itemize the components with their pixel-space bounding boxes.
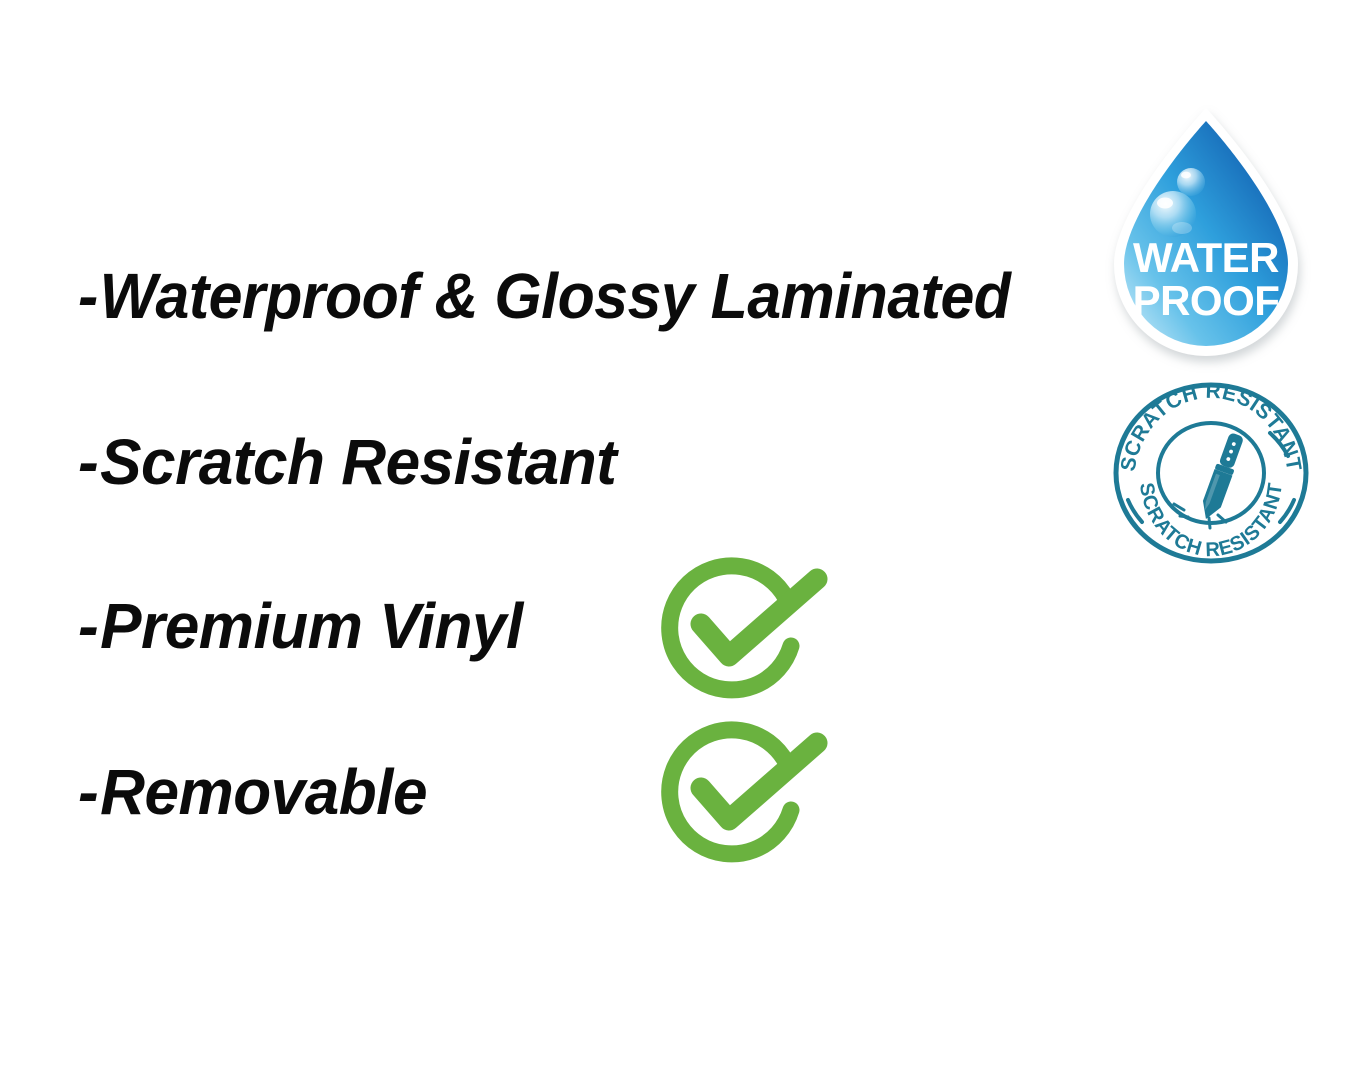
bullet-dash: - xyxy=(78,430,98,494)
waterproof-badge: WATER PROOF xyxy=(1098,104,1314,366)
feature-item-scratch-resistant: -Scratch Resistant xyxy=(78,430,616,494)
feature-label: Removable xyxy=(100,756,427,828)
feature-label: Premium Vinyl xyxy=(100,590,523,662)
bullet-dash: - xyxy=(78,760,98,824)
scratch-resistant-badge: SCRATCH RESISTANT SCRATCH RESISTANT xyxy=(1112,382,1310,564)
feature-label: Waterproof & Glossy Laminated xyxy=(100,260,1011,332)
waterproof-line2: PROOF xyxy=(1133,277,1280,324)
stamp-text-top: SCRATCH RESISTANT xyxy=(1117,380,1306,473)
bubble-small-icon xyxy=(1177,168,1205,196)
bullet-dash: - xyxy=(78,594,98,658)
check-circle-icon xyxy=(643,722,843,872)
check-circle-icon xyxy=(643,558,843,708)
feature-label: Scratch Resistant xyxy=(100,426,616,498)
feature-item-premium-vinyl: -Premium Vinyl xyxy=(78,594,523,658)
feature-list-graphic: -Waterproof & Glossy Laminated -Scratch … xyxy=(0,0,1359,1080)
bullet-dash: - xyxy=(78,264,98,328)
feature-item-waterproof: -Waterproof & Glossy Laminated xyxy=(78,264,1010,328)
knife-icon xyxy=(1197,431,1246,522)
waterproof-line1: WATER xyxy=(1133,234,1279,281)
feature-item-removable: -Removable xyxy=(78,760,427,824)
